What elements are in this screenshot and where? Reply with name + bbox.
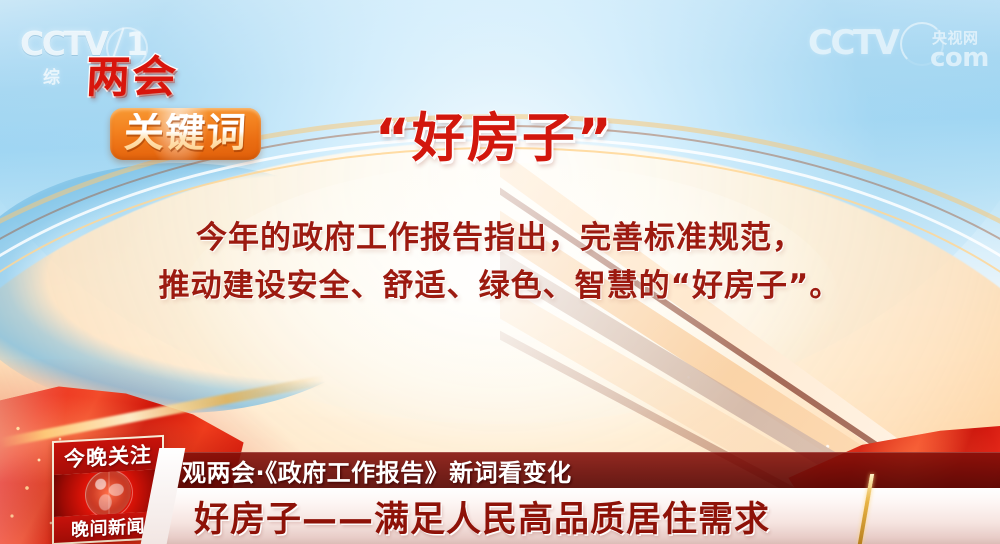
body-line: 推动建设安全、舒适、绿色、智慧的“好房子”。 [0,262,1000,310]
program-badge-bottom-label: 晚间新闻 [71,512,145,542]
watermark-tld-label: com [930,45,989,71]
globe-icon [54,469,162,517]
keyword-badge: 关键词 [110,108,261,160]
keyword-badge-label: 关键词 [123,113,248,153]
lower-third-headline-bar: 好房子——满足人民高品质居住需求 [156,488,1000,544]
lower-third-subtitle-text: 观两会·《政府工作报告》新词看变化 [182,453,572,488]
cctv-com-watermark: CCTV 央视网 com [808,26,986,74]
body-paragraph: 今年的政府工作报告指出，完善标准规范， 推动建设安全、舒适、绿色、智慧的“好房子… [0,214,1000,310]
lower-third-subtitle-bar: 观两会·《政府工作报告》新词看变化 [156,452,1000,488]
body-line: 今年的政府工作报告指出，完善标准规范， [0,214,1000,262]
keyword-logo-block: 两会 关键词 [86,56,261,164]
broadcast-graphic-stage: CCTV 1 综 CCTV 央视网 com 两会 关键词 “好房子” 今年的政府… [0,0,1000,544]
keyword-logo-top-text: 两会 [85,56,262,100]
lower-third: 观两会·《政府工作报告》新词看变化 好房子——满足人民高品质居住需求 今晚关注 … [0,434,1000,544]
lower-third-headline-text: 好房子——满足人民高品质居住需求 [194,491,770,542]
program-badge-top-label: 今晚关注 [64,439,152,474]
page-title: “好房子” [375,112,614,165]
